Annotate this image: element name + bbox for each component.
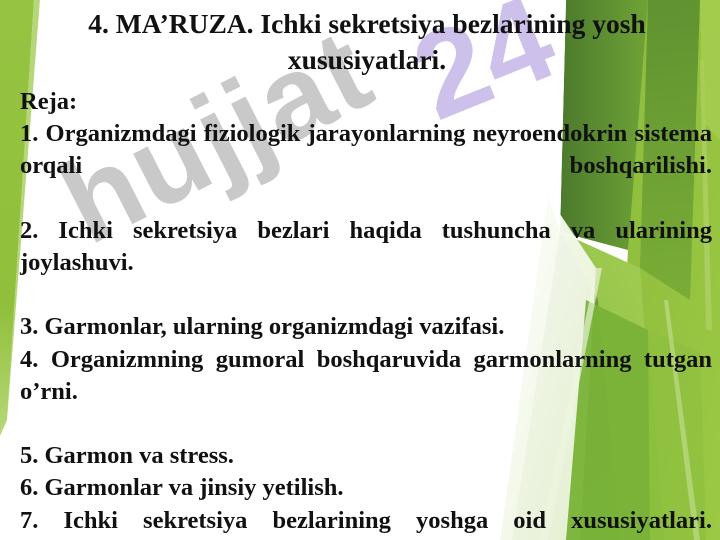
slide: hujjat 24 4. MA’RUZA. Ichki sekretsiya b… xyxy=(0,0,720,540)
title-line-2: xususiyatlari. xyxy=(22,42,712,78)
plan-item-5: 5. Garmon va stress. xyxy=(20,440,712,472)
plan-heading: Reja: xyxy=(20,86,712,118)
slide-content: 4. MA’RUZA. Ichki sekretsiya bezlarining… xyxy=(0,0,720,540)
plan-item-3: 3. Garmonlar, ularning organizmdagi vazi… xyxy=(20,311,712,343)
plan-item-7: 7. Ichki sekretsiya bezlarining yoshga o… xyxy=(20,505,712,540)
plan-item-1: 1. Organizmdagi fiziologik jarayonlarnin… xyxy=(20,118,712,215)
slide-title: 4. MA’RUZA. Ichki sekretsiya bezlarining… xyxy=(22,6,712,79)
plan-item-2: 2. Ichki sekretsiya bezlari haqida tushu… xyxy=(20,215,712,312)
plan-item-4: 4. Organizmning gumoral boshqaruvida gar… xyxy=(20,344,712,441)
plan-list: Reja: 1. Organizmdagi fiziologik jarayon… xyxy=(20,86,712,540)
title-line-1: 4. MA’RUZA. Ichki sekretsiya bezlarining… xyxy=(22,6,712,42)
plan-item-6: 6. Garmonlar va jinsiy yetilish. xyxy=(20,472,712,504)
